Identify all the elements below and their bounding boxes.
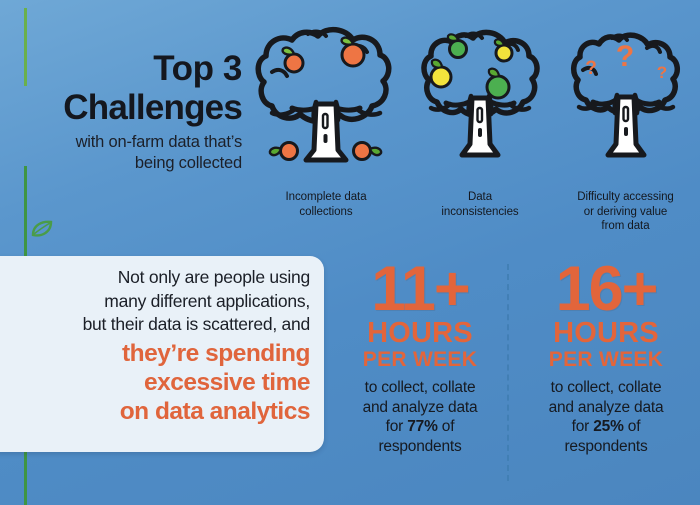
quote-strong-line-three: on data analytics — [0, 397, 310, 426]
tree-card-data-inconsistencies: Data inconsistencies — [406, 18, 554, 219]
caption-line-one: Incomplete data — [246, 190, 406, 205]
tree-card-incomplete-data: Incomplete data collections — [246, 18, 406, 219]
fallen-fruit-right — [354, 143, 382, 160]
stat-block-16-hours: 16+ HOURS PER WEEK to collect, collate a… — [520, 256, 692, 456]
stat-desc-line-four: respondents — [336, 437, 504, 457]
fruit-orange — [283, 48, 303, 72]
subtitle-line-two: being collected — [36, 153, 242, 174]
question-mark-small-left: ? — [585, 58, 597, 79]
tree-question-mark-icon: ? ? ? — [565, 18, 687, 188]
fruit-green — [487, 69, 509, 98]
quote-strong-line-one: they’re spending — [0, 339, 310, 368]
tree-orange-fruit-icon — [250, 18, 402, 188]
stat-description: to collect, collate and analyze data for… — [336, 378, 504, 456]
stat-desc-line-three: for 25% of — [520, 417, 692, 437]
quote-plain-line-one: Not only are people using — [0, 266, 310, 290]
stat-desc-line-one: to collect, collate — [336, 378, 504, 398]
stat-number: 16+ — [520, 258, 692, 320]
stat-hours-label: HOURS — [336, 318, 504, 348]
quote-plain-text: Not only are people using many different… — [0, 266, 310, 337]
stat-desc-prefix: for — [572, 418, 594, 435]
question-mark-large: ? — [615, 40, 633, 73]
tree-mixed-fruit-icon — [416, 18, 544, 188]
statistics-section: 11+ HOURS PER WEEK to collect, collate a… — [330, 256, 700, 505]
green-rule-top — [24, 8, 27, 86]
page-title: Top 3 Challenges with on-farm data that’… — [36, 50, 242, 174]
tree-caption-incomplete-data: Incomplete data collections — [246, 190, 406, 219]
quote-plain-line-three: but their data is scattered, and — [0, 313, 310, 337]
stat-desc-line-one: to collect, collate — [520, 378, 692, 398]
caption-line-one: Data — [406, 190, 554, 205]
subtitle-line-one: with on-farm data that’s — [36, 132, 242, 153]
stat-percent: 77% — [407, 418, 437, 435]
caption-line-two: inconsistencies — [406, 205, 554, 220]
stat-per-week-label: PER WEEK — [520, 348, 692, 371]
stat-dashed-divider — [507, 264, 509, 481]
caption-line-three: from data — [551, 219, 700, 234]
stat-desc-suffix: of — [624, 418, 641, 435]
infographic-canvas: Top 3 Challenges with on-farm data that’… — [0, 0, 700, 505]
tree-caption-difficulty-accessing: Difficulty accessing or deriving value f… — [551, 190, 700, 234]
stat-desc-line-two: and analyze data — [336, 398, 504, 418]
question-mark-small-right: ? — [656, 63, 666, 82]
stat-block-11-hours: 11+ HOURS PER WEEK to collect, collate a… — [336, 256, 504, 456]
fruit-green — [448, 34, 467, 57]
stat-desc-line-three: for 77% of — [336, 417, 504, 437]
stat-percent: 25% — [593, 418, 623, 435]
fruit-orange — [342, 38, 364, 66]
quote-plain-line-two: many different applications, — [0, 290, 310, 314]
stat-number: 11+ — [336, 258, 504, 320]
caption-line-one: Difficulty accessing — [551, 190, 700, 205]
fruit-yellow — [431, 60, 451, 87]
leaf-icon — [31, 219, 53, 239]
title-subtitle: with on-farm data that’s being collected — [36, 132, 242, 174]
stat-hours-label: HOURS — [520, 318, 692, 348]
quote-callout-card: Not only are people using many different… — [0, 256, 324, 452]
quote-emphasis-text: they’re spending excessive time on data … — [0, 339, 310, 426]
quote-strong-line-two: excessive time — [0, 368, 310, 397]
tree-illustration-row: Incomplete data collections — [246, 18, 700, 250]
tree-card-difficulty-accessing: ? ? ? Difficulty accessing or deriving v… — [551, 18, 700, 234]
stat-per-week-label: PER WEEK — [336, 348, 504, 371]
stat-desc-prefix: for — [386, 418, 408, 435]
caption-line-two: or deriving value — [551, 205, 700, 220]
title-line-one: Top 3 — [36, 50, 242, 88]
tree-caption-data-inconsistencies: Data inconsistencies — [406, 190, 554, 219]
stat-desc-line-two: and analyze data — [520, 398, 692, 418]
title-line-two: Challenges — [36, 88, 242, 128]
fallen-fruit-left — [270, 143, 298, 160]
stat-desc-line-four: respondents — [520, 437, 692, 457]
stat-desc-suffix: of — [438, 418, 455, 435]
caption-line-two: collections — [246, 205, 406, 220]
stat-description: to collect, collate and analyze data for… — [520, 378, 692, 456]
